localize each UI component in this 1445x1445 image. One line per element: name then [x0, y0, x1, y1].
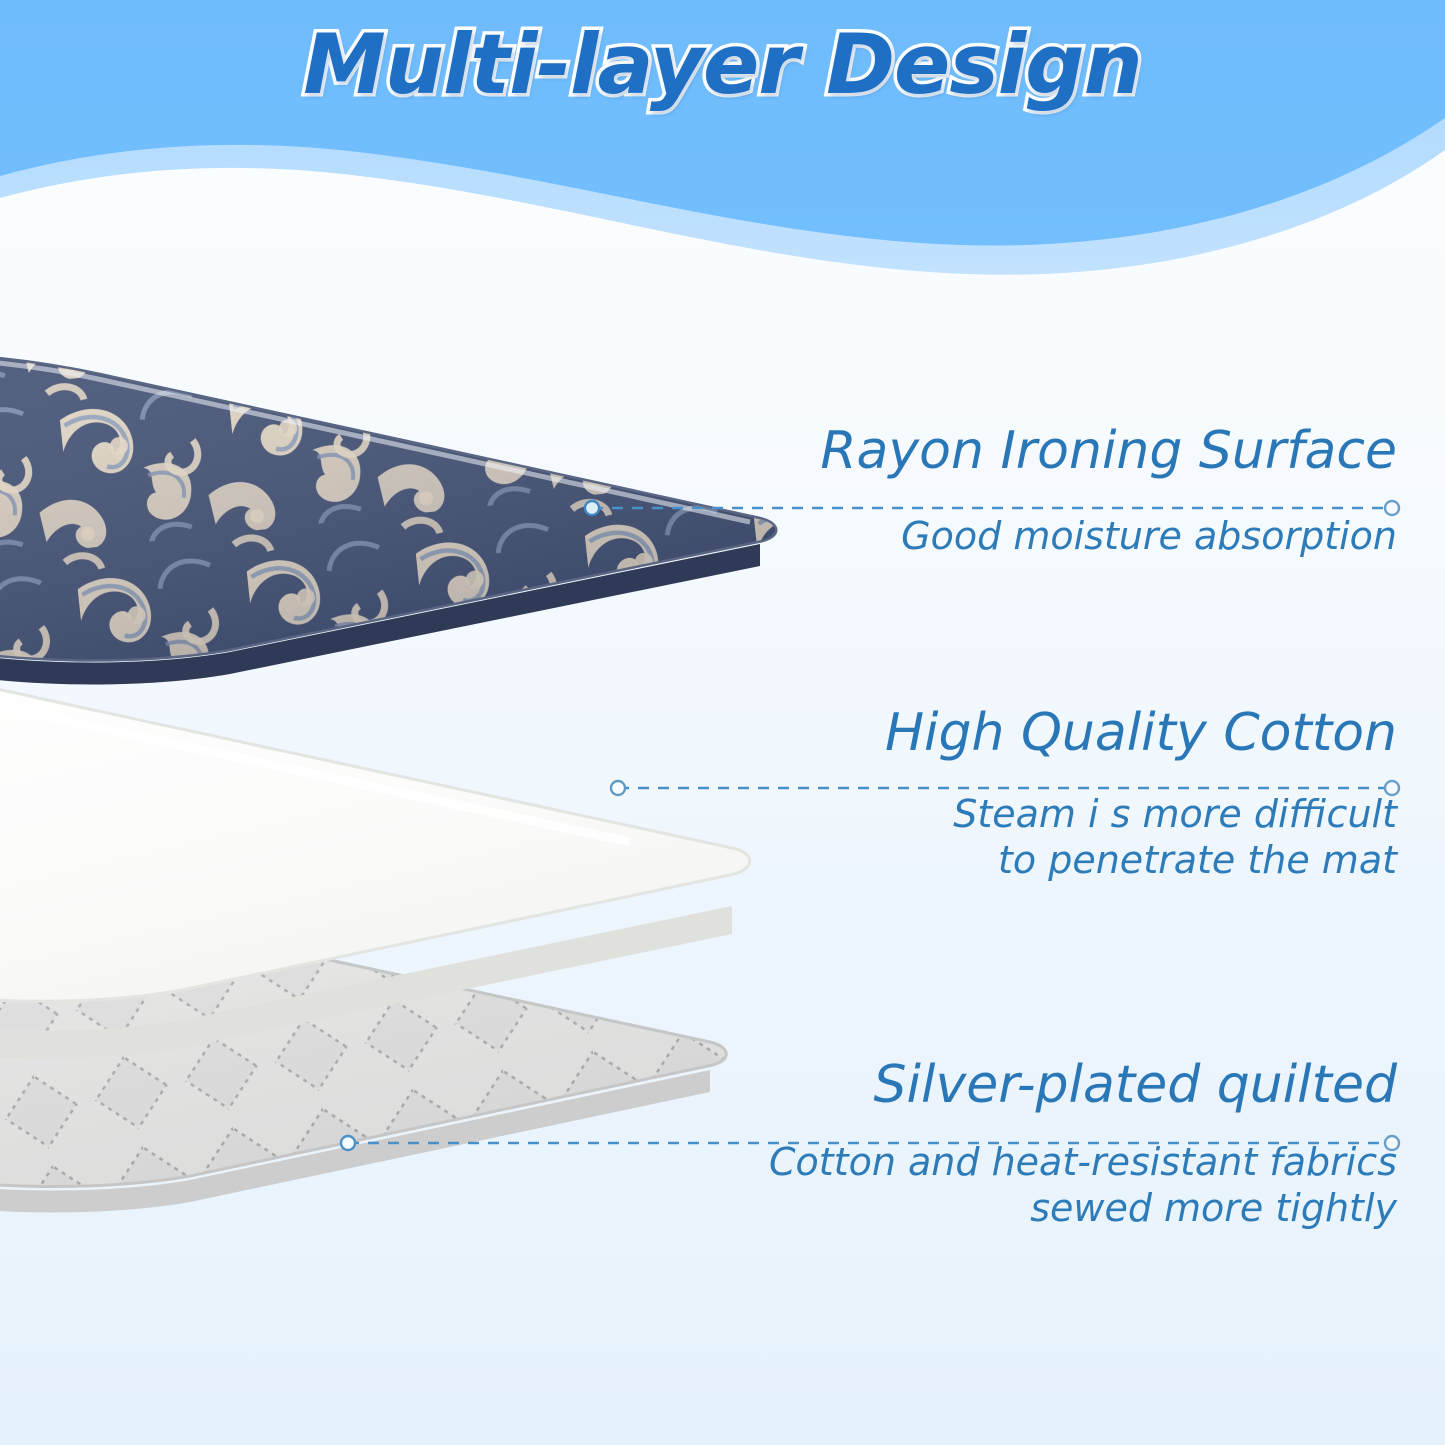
callout-rayon-ironing-surface: Rayon Ironing Surface Good moisture abso…: [757, 424, 1397, 559]
infographic-canvas: Multi-layer Design: [0, 0, 1445, 1445]
callout-high-quality-cotton: High Quality Cotton Steam i s more diffi…: [757, 706, 1397, 884]
callout-title: Silver-plated quilted: [757, 1058, 1397, 1113]
callout-description-line: Good moisture absorption: [757, 513, 1397, 559]
callout-description: Good moisture absorption: [757, 513, 1397, 559]
callout-silver-plated-quilted: Silver-plated quilted Cotton and heat-re…: [757, 1058, 1397, 1232]
callout-title: Rayon Ironing Surface: [757, 424, 1397, 479]
callout-description-line: Cotton and heat-resistant fabrics: [757, 1139, 1397, 1185]
product-layer-damask: [0, 310, 830, 684]
callout-title: High Quality Cotton: [757, 706, 1397, 761]
callout-description: Steam i s more difficult to penetrate th…: [757, 791, 1397, 884]
product-layer-stack: [0, 250, 870, 1430]
callout-description-line: Steam i s more difficult: [757, 791, 1397, 837]
page-title: Multi-layer Design: [0, 16, 1445, 113]
callout-description-line: sewed more tightly: [757, 1185, 1397, 1231]
callout-description-line: to penetrate the mat: [757, 837, 1397, 883]
callout-description: Cotton and heat-resistant fabrics sewed …: [757, 1139, 1397, 1232]
